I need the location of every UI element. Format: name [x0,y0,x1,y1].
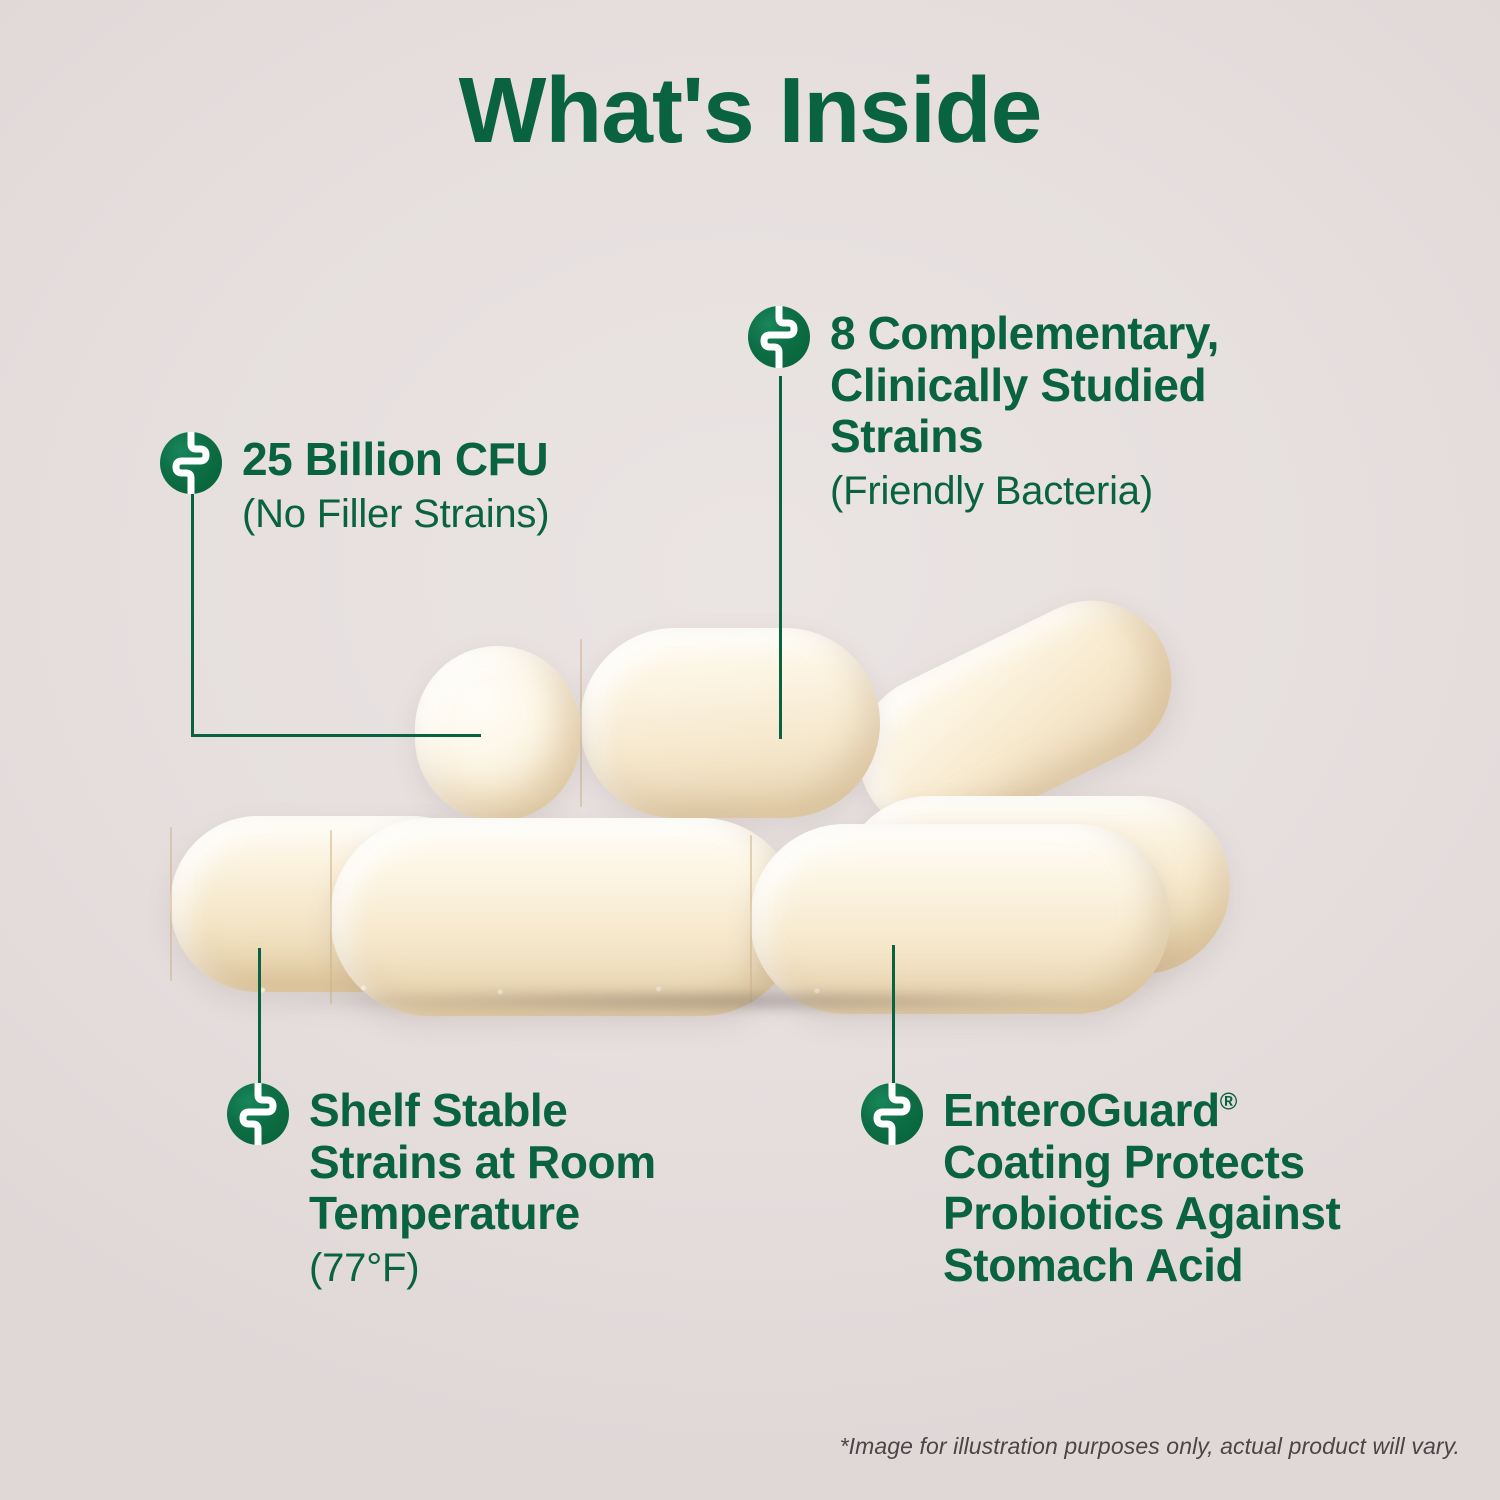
callout-subline: (Friendly Bacteria) [830,467,1219,515]
infographic-canvas: What's Inside 25 Billion CFU (No Filler … [0,0,1500,1500]
callout-headline: Shelf Stable Strains at Room Temperature [309,1085,656,1240]
product-capsule-photo [150,620,1350,1040]
gut-intestine-icon [227,1083,289,1145]
leader-line-shelf-stable-vertical [258,948,261,1088]
gut-intestine-icon [748,306,810,368]
leader-line-enteroguard-vertical [892,945,895,1093]
callout-enteroguard-coating: EnteroGuard® Coating Protects Probiotics… [861,1083,1481,1291]
brand-name: EnteroGuard [943,1084,1220,1136]
callout-25-billion-cfu: 25 Billion CFU (No Filler Strains) [160,432,720,538]
callout-clinically-studied-strains: 8 Complementary, Clinically Studied Stra… [748,306,1388,515]
gut-intestine-icon [160,432,222,494]
callout-headline: 8 Complementary, Clinically Studied Stra… [830,308,1219,463]
disclaimer-footnote: *Image for illustration purposes only, a… [840,1433,1460,1460]
gut-intestine-icon [861,1083,923,1145]
page-title: What's Inside [0,62,1500,160]
callout-shelf-stable: Shelf Stable Strains at Room Temperature… [227,1083,787,1292]
capsule-top-right [580,628,880,818]
callout-headline: 25 Billion CFU [242,434,549,486]
callout-subline: (77°F) [309,1244,656,1292]
callout-subline: (No Filler Strains) [242,490,549,538]
leader-line-cfu-horizontal [191,734,481,737]
registered-trademark-symbol: ® [1220,1089,1237,1116]
headline-rest: Coating Protects Probiotics Against Stom… [943,1136,1340,1291]
callout-headline: EnteroGuard® Coating Protects Probiotics… [943,1085,1340,1291]
capsule-pile-shadow [188,988,1288,1014]
